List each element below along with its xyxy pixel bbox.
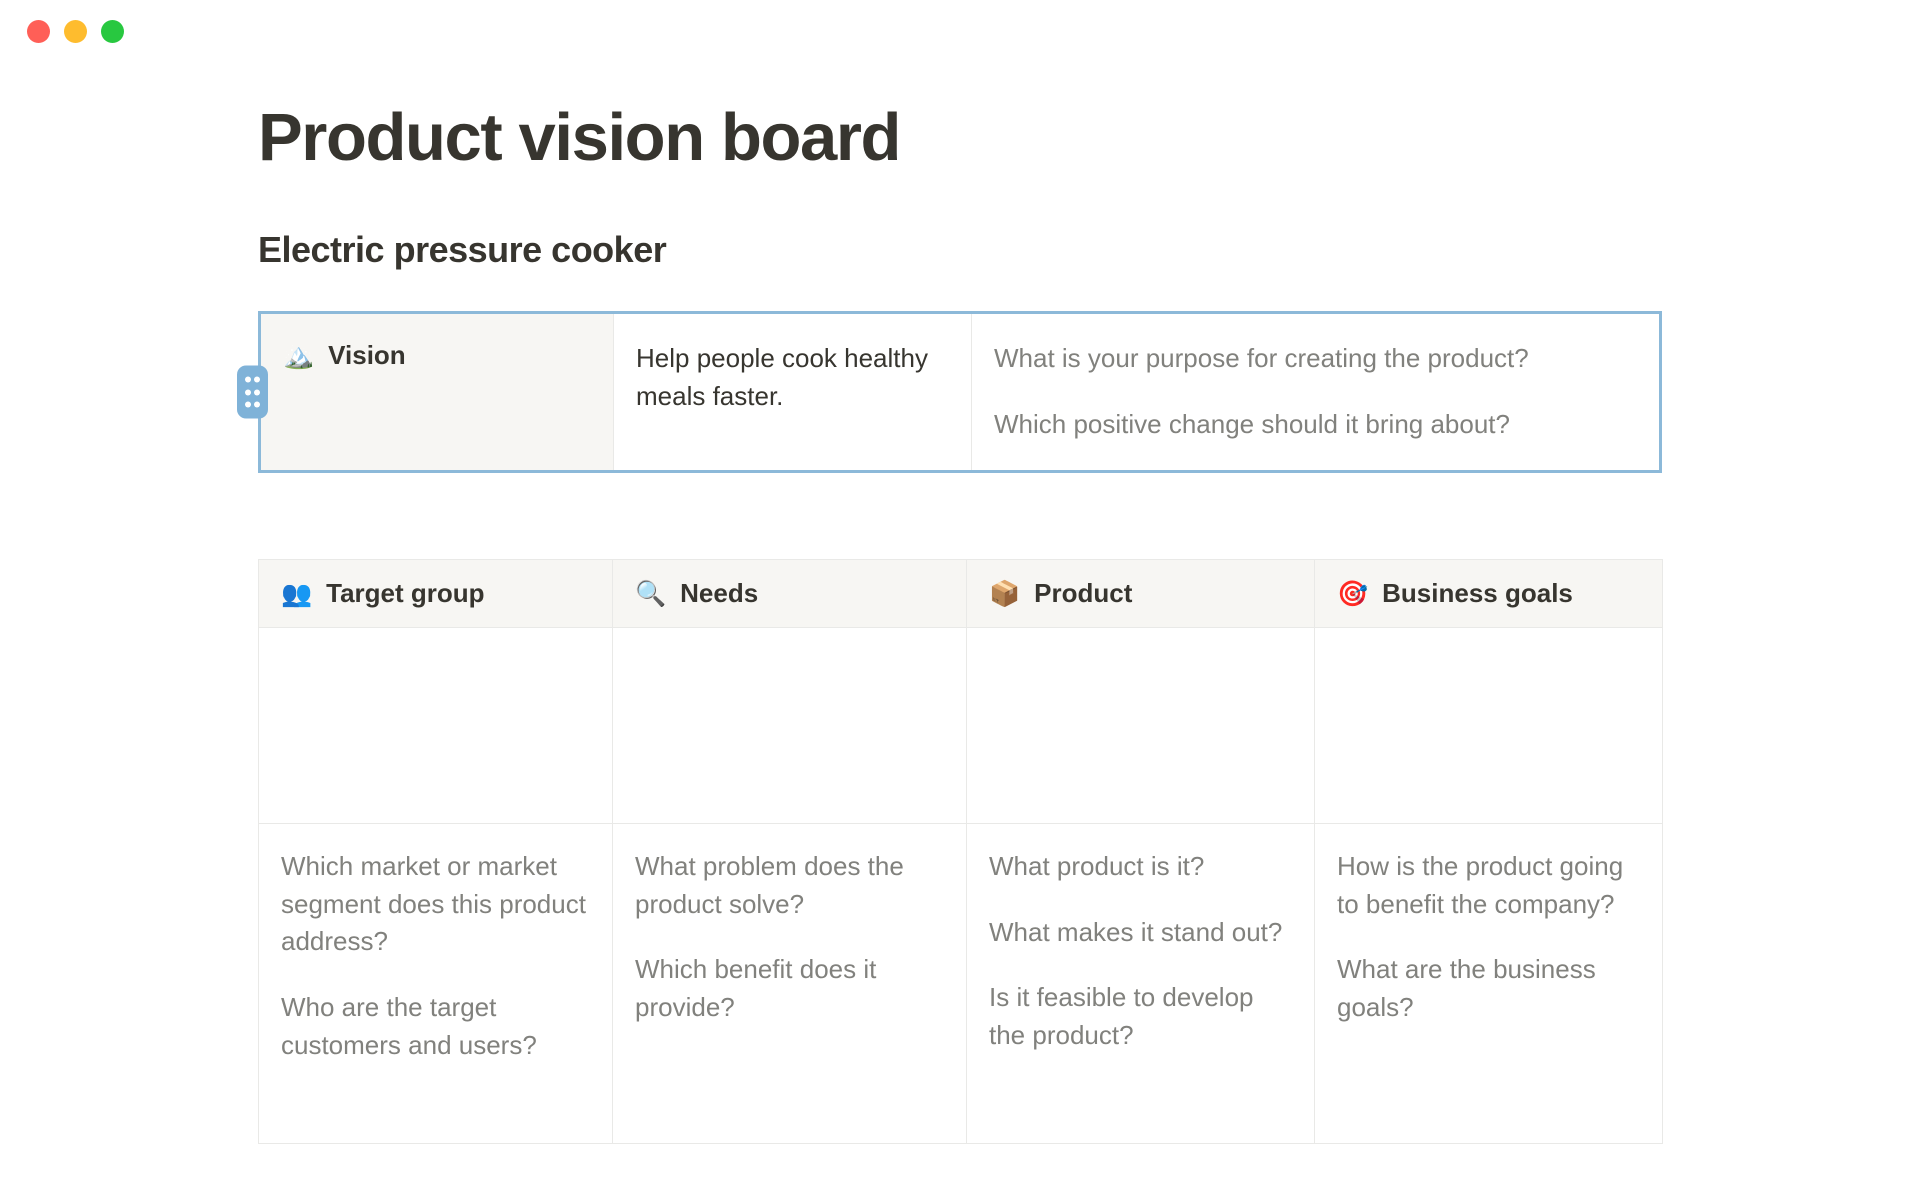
vision-block[interactable]: 🏔️ Vision Help people cook healthy meals… <box>258 311 1662 472</box>
maximize-window-button[interactable] <box>101 20 124 43</box>
vision-hint-cell[interactable]: What is your purpose for creating the pr… <box>972 313 1661 471</box>
hint-text: What makes it stand out? <box>989 914 1290 952</box>
cell-needs-empty[interactable] <box>613 627 967 823</box>
cell-business-goals-hints[interactable]: How is the product going to benefit the … <box>1315 823 1663 1143</box>
table-row <box>259 627 1663 823</box>
direct-hit-icon: 🎯 <box>1337 581 1368 606</box>
table-header-row: 👥 Target group 🔍 Needs 📦 Product <box>259 559 1663 627</box>
table-row: Which market or market segment does this… <box>259 823 1663 1143</box>
hint-text: Is it feasible to develop the product? <box>989 979 1290 1054</box>
cell-hints: Which market or market segment does this… <box>281 848 588 1064</box>
vision-label-cell[interactable]: 🏔️ Vision <box>260 313 614 471</box>
minimize-window-button[interactable] <box>64 20 87 43</box>
hint-text: Which market or market segment does this… <box>281 848 588 961</box>
cell-hints: What problem does the product solve? Whi… <box>635 848 942 1027</box>
hint-text: Which benefit does it provide? <box>635 951 942 1026</box>
hint-text: Who are the target customers and users? <box>281 989 588 1064</box>
column-header-product[interactable]: 📦 Product <box>967 559 1315 627</box>
cell-hints: How is the product going to benefit the … <box>1337 848 1638 1027</box>
vision-value: Help people cook healthy meals faster. <box>636 340 945 415</box>
package-icon: 📦 <box>989 581 1020 606</box>
column-header-label: Product <box>1034 578 1132 609</box>
vision-value-cell[interactable]: Help people cook healthy meals faster. <box>614 313 972 471</box>
mountain-icon: 🏔️ <box>283 343 314 368</box>
cell-target-group-hints[interactable]: Which market or market segment does this… <box>259 823 613 1143</box>
cell-business-goals-empty[interactable] <box>1315 627 1663 823</box>
hint-text: How is the product going to benefit the … <box>1337 848 1638 923</box>
vision-label: Vision <box>328 340 406 371</box>
page-content: Product vision board Electric pressure c… <box>0 62 1920 1144</box>
vision-hint: Which positive change should it bring ab… <box>994 406 1633 444</box>
page-title[interactable]: Product vision board <box>258 102 1860 174</box>
busts-in-silhouette-icon: 👥 <box>281 581 312 606</box>
column-header-target-group[interactable]: 👥 Target group <box>259 559 613 627</box>
vision-row: 🏔️ Vision Help people cook healthy meals… <box>260 313 1661 471</box>
vision-board-table: 👥 Target group 🔍 Needs 📦 Product <box>258 559 1663 1144</box>
column-header-label: Target group <box>326 578 484 609</box>
drag-dots-icon[interactable] <box>237 366 268 419</box>
vision-table: 🏔️ Vision Help people cook healthy meals… <box>258 311 1662 472</box>
hint-text: What are the business goals? <box>1337 951 1638 1026</box>
window-titlebar <box>0 0 1920 62</box>
hint-text: What product is it? <box>989 848 1290 886</box>
column-header-needs[interactable]: 🔍 Needs <box>613 559 967 627</box>
cell-needs-hints[interactable]: What problem does the product solve? Whi… <box>613 823 967 1143</box>
cell-product-empty[interactable] <box>967 627 1315 823</box>
vision-hints: What is your purpose for creating the pr… <box>994 340 1633 443</box>
close-window-button[interactable] <box>27 20 50 43</box>
cell-hints: What product is it? What makes it stand … <box>989 848 1290 1055</box>
cell-target-group-empty[interactable] <box>259 627 613 823</box>
cell-product-hints[interactable]: What product is it? What makes it stand … <box>967 823 1315 1143</box>
hint-text: What problem does the product solve? <box>635 848 942 923</box>
column-header-business-goals[interactable]: 🎯 Business goals <box>1315 559 1663 627</box>
column-header-label: Needs <box>680 578 758 609</box>
column-header-label: Business goals <box>1382 578 1573 609</box>
magnifying-glass-icon: 🔍 <box>635 581 666 606</box>
vision-hint: What is your purpose for creating the pr… <box>994 340 1633 378</box>
page-subtitle[interactable]: Electric pressure cooker <box>258 229 1860 271</box>
